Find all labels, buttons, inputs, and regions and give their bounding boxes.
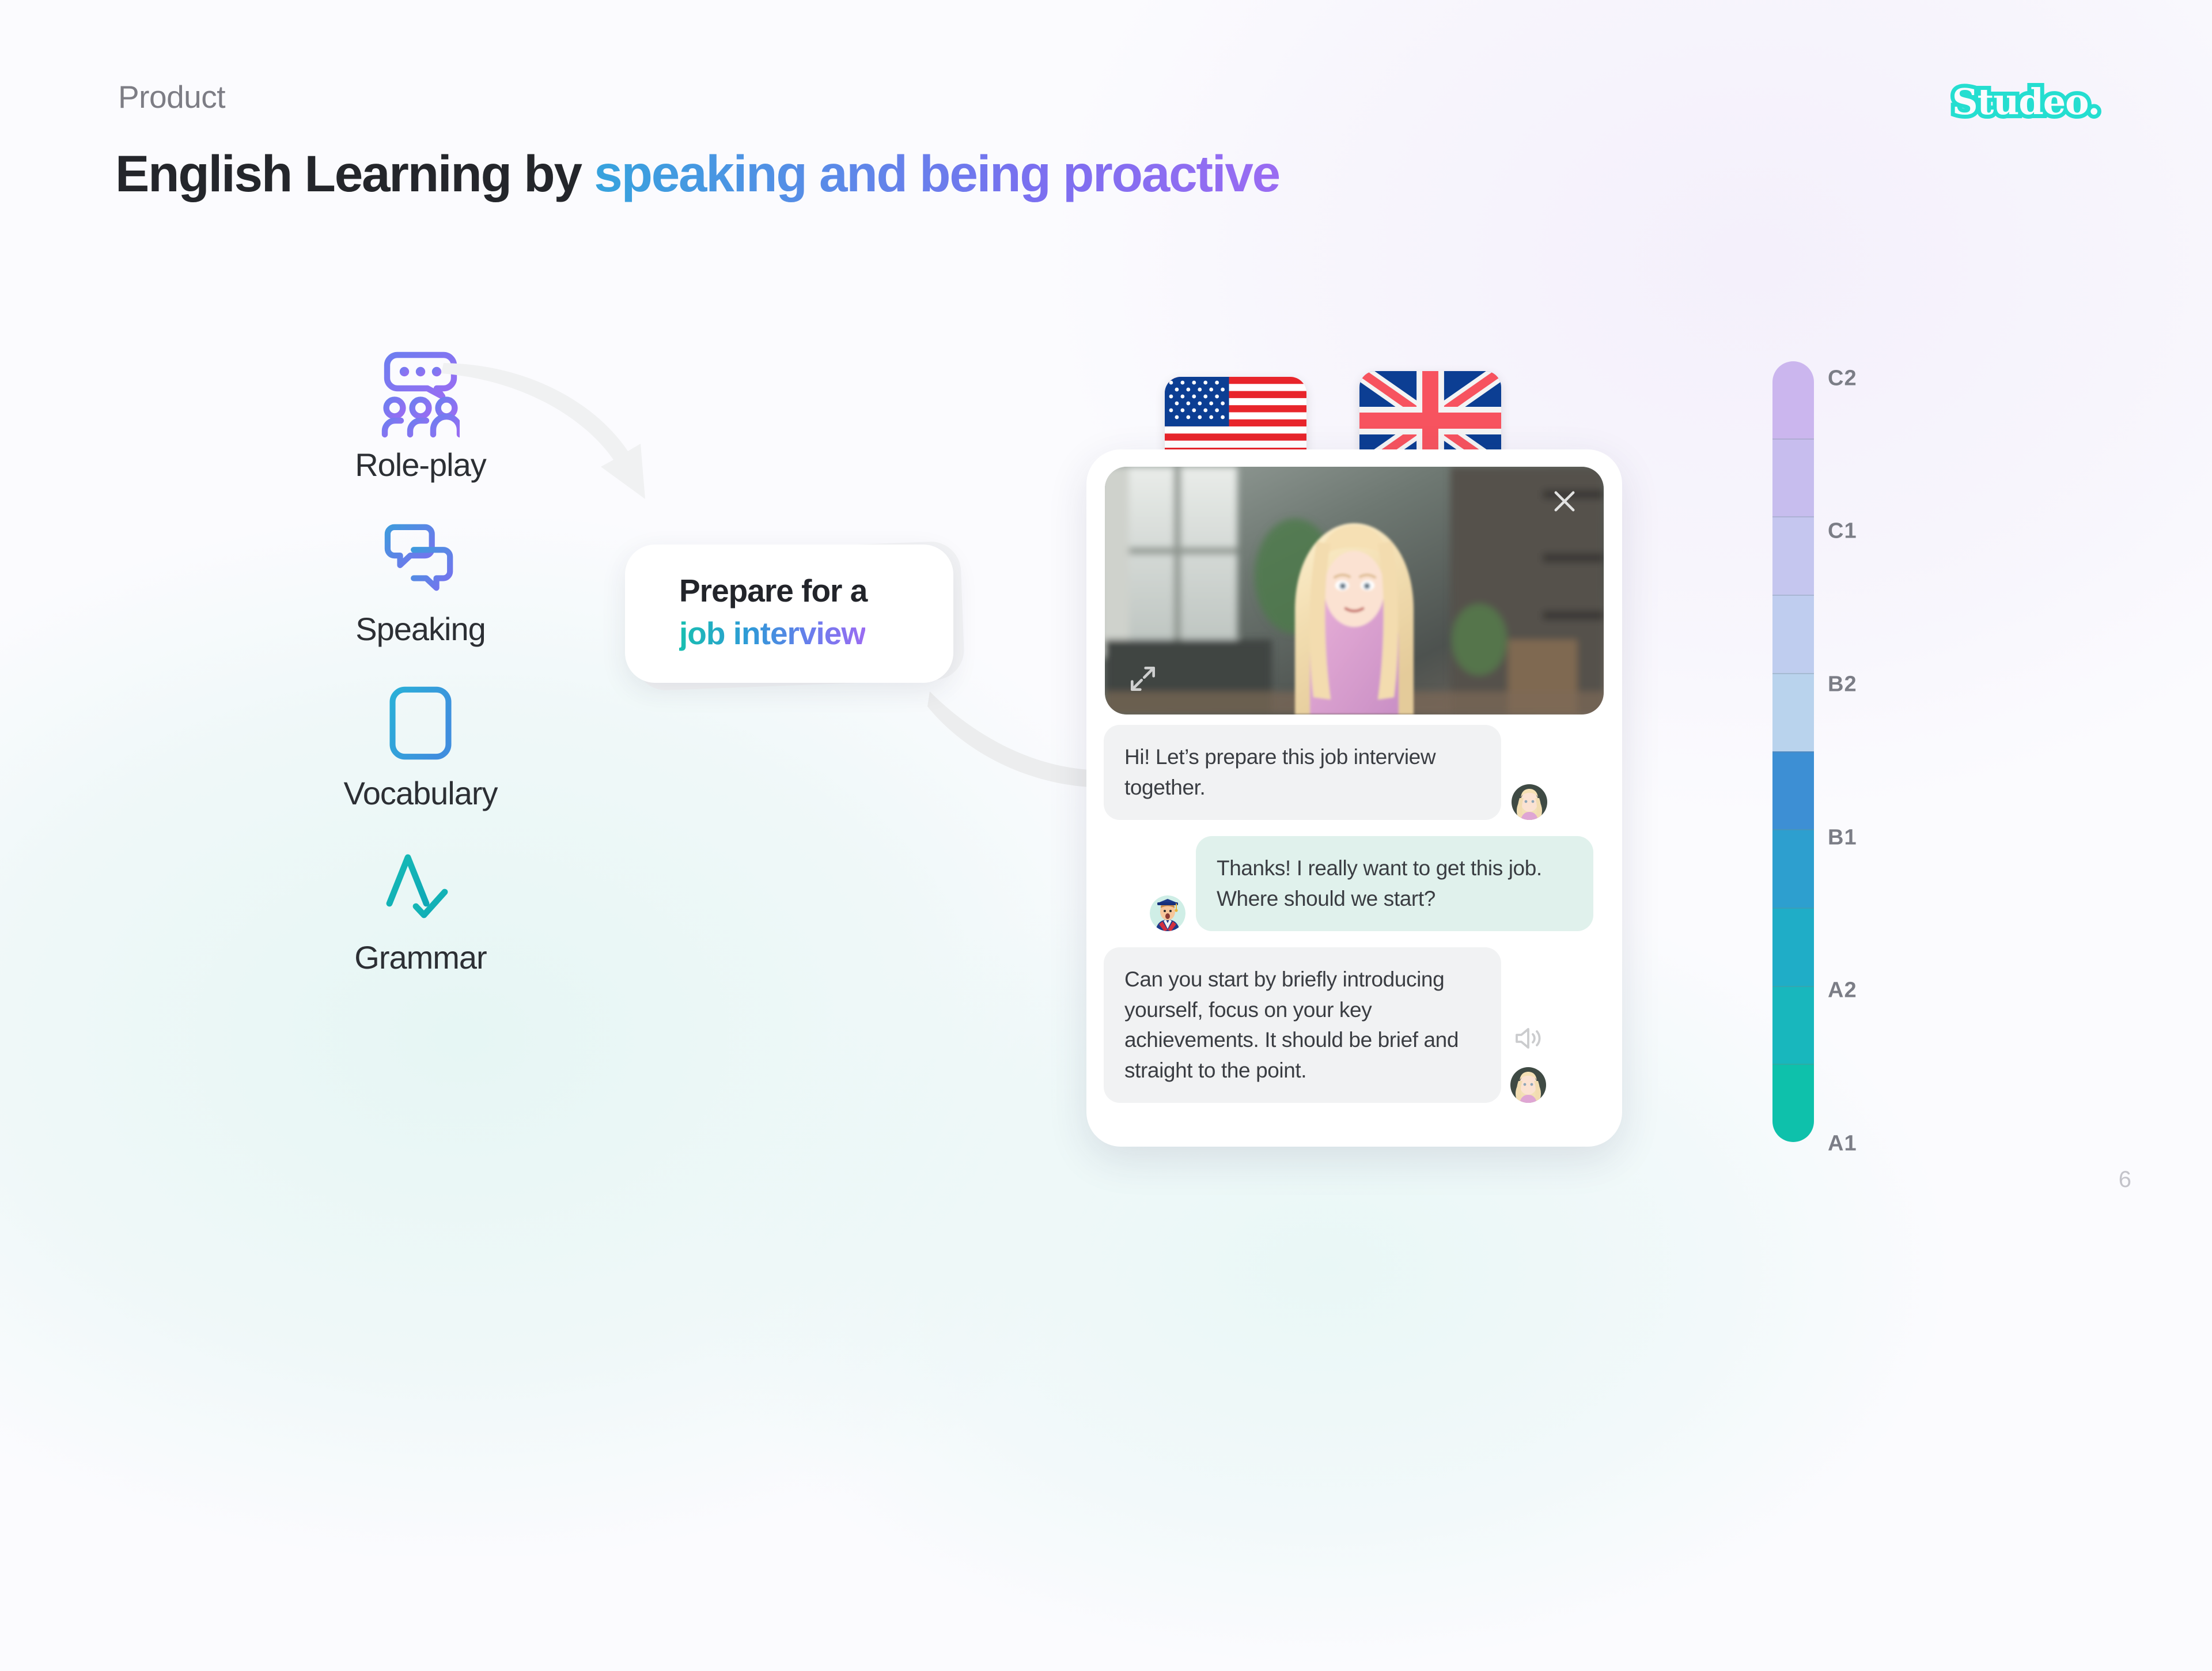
cefr-segment [1772,986,1814,1064]
page-number: 6 [2119,1167,2131,1193]
cefr-segment [1772,673,1814,751]
feature-item-speaking[interactable]: Speaking [323,516,518,648]
cefr-label-c2: C2 [1828,366,1857,391]
close-icon[interactable] [1550,486,1580,516]
tutor-avatar [1512,784,1547,820]
cefr-segment [1772,361,1814,438]
speech-bubbles-icon [323,516,518,602]
cefr-segment [1772,516,1814,595]
feature-list: Role-play Speaking [323,351,518,1008]
studeo-logo: Studeo. [1952,81,2100,123]
cefr-segment [1772,595,1814,673]
page-title-gradient: speaking and being proactive [594,145,1279,202]
cefr-label-b2: B2 [1828,672,1857,697]
chat-message-list: Hi! Let’s prepare this job interview tog… [1086,725,1622,1119]
feature-item-grammar[interactable]: Grammar [323,844,518,976]
eyebrow-label: Product [118,78,225,115]
cefr-label-a2: A2 [1828,978,1857,1003]
chat-panel: Hi! Let’s prepare this job interview tog… [1086,449,1622,1147]
page-title: English Learning by speaking and being p… [115,144,1279,203]
feature-item-vocabulary[interactable]: Vocabulary [323,680,518,812]
chat-message-student-1: Thanks! I really want to get this job. W… [1104,836,1605,931]
cefr-segment [1772,1064,1814,1142]
cefr-label-a1: A1 [1828,1131,1857,1156]
message-bubble: Hi! Let’s prepare this job interview tog… [1104,725,1501,820]
cefr-segment [1772,751,1814,830]
cefr-label-c1: C1 [1828,519,1857,544]
feature-label: Vocabulary [323,774,518,812]
chat-message-tutor-1: Hi! Let’s prepare this job interview tog… [1104,725,1605,820]
cefr-segment [1772,438,1814,517]
letter-a-check-icon [323,844,518,931]
cefr-segment [1772,829,1814,908]
video-background [1105,467,1604,714]
feature-label: Role-play [323,446,518,483]
cefr-segment [1772,908,1814,986]
chat-message-tutor-2: Can you start by briefly introducing you… [1104,947,1605,1103]
prompt-card-line1: Prepare for a [679,572,953,609]
book-icon [323,680,518,766]
group-chat-icon [323,351,518,438]
feature-item-role-play[interactable]: Role-play [323,351,518,483]
background-tint-mint [0,519,1210,1556]
feature-label: Grammar [323,939,518,976]
prompt-card-line2: job interview [679,615,865,652]
cefr-label-b1: B1 [1828,825,1857,850]
feature-label: Speaking [323,610,518,648]
message-actions [1510,1024,1546,1103]
expand-icon[interactable] [1127,663,1159,695]
message-bubble: Thanks! I really want to get this job. W… [1196,836,1593,931]
speaker-icon[interactable] [1513,1024,1543,1052]
student-avatar [1150,895,1185,931]
message-bubble: Can you start by briefly introducing you… [1104,947,1501,1103]
cefr-level-scale: C2C1B2B1A2A1 [1772,361,1814,1142]
tutor-avatar [1510,1067,1546,1103]
prompt-card-container: Prepare for a job interview [625,545,953,683]
cefr-bar [1772,361,1814,1142]
page-title-plain: English Learning by [115,145,594,202]
prompt-card[interactable]: Prepare for a job interview [625,545,953,683]
avatar-video-tile[interactable] [1105,467,1604,714]
